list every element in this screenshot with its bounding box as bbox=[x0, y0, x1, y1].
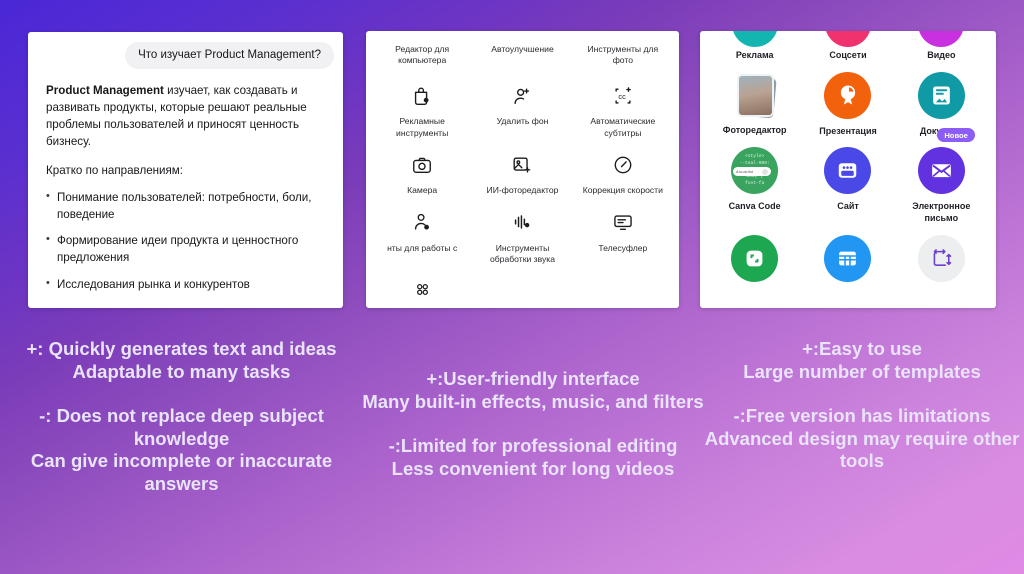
tool-item-remove-background[interactable]: Удалить фон bbox=[472, 70, 572, 139]
camera-icon bbox=[376, 152, 468, 177]
team-icon bbox=[376, 210, 468, 235]
tool-item-auto-subtitles[interactable]: cc Автоматические субтитры bbox=[573, 70, 673, 139]
summary-con-line: -:Free version has limitations bbox=[700, 405, 1024, 428]
summary-con-line: -: Does not replace deep subject knowled… bbox=[14, 405, 349, 450]
app-category-video: Видео bbox=[895, 47, 988, 62]
app-category-labels: Реклама Соцсети Видео bbox=[700, 47, 996, 62]
tool-item-camera[interactable]: Камера bbox=[372, 139, 472, 197]
summary-pro-line: Adaptable to many tasks bbox=[14, 361, 349, 384]
app-category-ads: Реклама bbox=[708, 47, 801, 62]
app-table[interactable] bbox=[801, 225, 894, 282]
document-image-icon bbox=[918, 72, 965, 119]
app-label: Электронное письмо bbox=[897, 201, 986, 224]
summary-pro-line: +:User-friendly interface bbox=[338, 368, 728, 391]
cut-circle-video[interactable] bbox=[895, 31, 988, 47]
app-whiteboard[interactable] bbox=[708, 225, 801, 282]
chat-subheading: Кратко по направлениям: bbox=[46, 162, 329, 179]
tool-item-label: нты для работы с bbox=[376, 243, 468, 255]
cut-circle-ads[interactable] bbox=[708, 31, 801, 47]
tool-item-label: Удалить фон bbox=[476, 116, 568, 128]
summary-column-left: +: Quickly generates text and ideas Adap… bbox=[14, 338, 349, 495]
tool-group-header: Редактор для компьютера bbox=[372, 40, 472, 70]
whiteboard-icon bbox=[731, 235, 778, 282]
chat-panel: Что изучает Product Management? Product … bbox=[28, 32, 343, 308]
chat-question-bubble: Что изучает Product Management? bbox=[125, 42, 334, 69]
chat-screenshot-card: Что изучает Product Management? Product … bbox=[28, 32, 343, 308]
apps-panel: Реклама Соцсети Видео Фоторедактор bbox=[700, 31, 996, 308]
cut-off-icon-row bbox=[700, 31, 996, 47]
canva-apps-screenshot-card: Реклама Соцсети Видео Фоторедактор bbox=[700, 31, 996, 308]
app-row-3 bbox=[700, 225, 996, 282]
tool-item-audio-tools[interactable]: Инструменты обработки звука bbox=[472, 197, 572, 266]
tool-item-speed-correction[interactable]: Коррекция скорости bbox=[573, 139, 673, 197]
app-presentation[interactable]: Презентация bbox=[801, 62, 894, 138]
tool-item-label: Инструменты обработки звука bbox=[476, 243, 568, 266]
tool-item-label: Камера bbox=[376, 185, 468, 197]
grid-dots-icon bbox=[413, 286, 432, 303]
image-ai-icon bbox=[476, 152, 568, 177]
tool-item-label: Коррекция скорости bbox=[577, 185, 669, 197]
app-canva-code[interactable]: <style> --teal-900: rk: l body { font-fa… bbox=[708, 137, 801, 224]
website-window-icon bbox=[824, 147, 871, 194]
list-item: Понимание пользователей: потребности, бо… bbox=[46, 190, 329, 224]
app-photo-editor[interactable]: Фоторедактор bbox=[708, 62, 801, 138]
app-email[interactable]: Новое Электронное письмо bbox=[895, 137, 988, 224]
summary-con-line: -:Limited for professional editing bbox=[338, 435, 728, 458]
app-resize[interactable] bbox=[895, 225, 988, 282]
screenshot-cards: Что изучает Product Management? Product … bbox=[0, 0, 1024, 318]
code-todo-pill: A to-do list bbox=[733, 167, 771, 176]
app-row-1: Фоторедактор Презентация bbox=[700, 62, 996, 138]
cut-circle-social[interactable] bbox=[801, 31, 894, 47]
summary-column-right: +:Easy to use Large number of templates … bbox=[700, 338, 1024, 473]
list-item: Формирование идеи продукта и ценностного… bbox=[46, 233, 329, 267]
list-item: Исследования рынка и конкурентов bbox=[46, 277, 329, 294]
app-website[interactable]: Сайт bbox=[801, 137, 894, 224]
presentation-icon bbox=[824, 72, 871, 119]
tool-item-label: Телесуфлер bbox=[577, 243, 669, 255]
closed-captions-icon: cc bbox=[577, 83, 669, 108]
tool-item-label: Рекламные инструменты bbox=[376, 116, 468, 139]
summary-con-line: Can give incomplete or inaccurate answer… bbox=[14, 450, 349, 495]
summary-pro-line: Large number of templates bbox=[700, 361, 1024, 384]
app-label: Canva Code bbox=[710, 201, 799, 213]
code-circle-icon: <style> --teal-900: rk: l body { font-fa… bbox=[731, 147, 778, 194]
code-line: font-fa bbox=[745, 181, 764, 188]
summary-con-line: Advanced design may require other tools bbox=[700, 428, 1024, 473]
slide-root: Что изучает Product Management? Product … bbox=[0, 0, 1024, 574]
chat-answer-bold: Product Management bbox=[46, 84, 164, 97]
table-grid-icon bbox=[824, 235, 871, 282]
tool-group-header: Автоулучшение bbox=[472, 40, 572, 70]
app-label: Презентация bbox=[803, 126, 892, 138]
tool-item-label: ИИ-фоторедактор bbox=[476, 185, 568, 197]
code-line: <style> bbox=[745, 154, 764, 161]
tools-screenshot-card: Редактор для компьютера Автоулучшение Ин… bbox=[366, 31, 679, 308]
speed-gauge-icon bbox=[577, 152, 669, 177]
tool-item-more-apps[interactable] bbox=[372, 266, 472, 304]
tool-item-teleprompter[interactable]: Телесуфлер bbox=[573, 197, 673, 266]
summary-con-line: Less convenient for long videos bbox=[338, 458, 728, 481]
tool-item-team-tools[interactable]: нты для работы с bbox=[372, 197, 472, 266]
photo-stack-icon bbox=[732, 72, 778, 118]
chat-bullet-list: Понимание пользователей: потребности, бо… bbox=[46, 190, 329, 294]
svg-text:cc: cc bbox=[618, 92, 626, 101]
tool-item-ai-photo-editor[interactable]: ИИ-фоторедактор bbox=[472, 139, 572, 197]
tool-grid: Редактор для компьютера Автоулучшение Ин… bbox=[366, 31, 679, 308]
audio-wave-icon bbox=[476, 210, 568, 235]
app-document[interactable]: Документ bbox=[895, 62, 988, 138]
tool-item-ad-tools[interactable]: Рекламные инструменты bbox=[372, 70, 472, 139]
tool-item-label: Автоматические субтитры bbox=[577, 116, 669, 139]
chat-answer-paragraph: Product Management изучает, как создават… bbox=[46, 82, 329, 151]
shopping-bag-icon bbox=[376, 83, 468, 108]
summary-pro-line: Many built-in effects, music, and filter… bbox=[338, 391, 728, 414]
chat-answer: Product Management изучает, как создават… bbox=[46, 82, 329, 304]
summary-column-middle: +:User-friendly interface Many built-in … bbox=[338, 368, 728, 480]
summary-section: +: Quickly generates text and ideas Adap… bbox=[0, 318, 1024, 574]
summary-pro-line: +: Quickly generates text and ideas bbox=[14, 338, 349, 361]
app-label: Фоторедактор bbox=[710, 125, 799, 137]
code-todo-text: A to-do list bbox=[736, 170, 753, 174]
status-badge: Новое bbox=[937, 128, 975, 142]
app-label: Сайт bbox=[803, 201, 892, 213]
tool-group-header: Инструменты для фото bbox=[573, 40, 673, 70]
teleprompter-icon bbox=[577, 210, 669, 235]
resize-icon bbox=[918, 235, 965, 282]
app-category-social: Соцсети bbox=[801, 47, 894, 62]
envelope-icon bbox=[918, 147, 965, 194]
person-add-icon bbox=[476, 83, 568, 108]
app-row-2: <style> --teal-900: rk: l body { font-fa… bbox=[700, 137, 996, 224]
summary-pro-line: +:Easy to use bbox=[700, 338, 1024, 361]
